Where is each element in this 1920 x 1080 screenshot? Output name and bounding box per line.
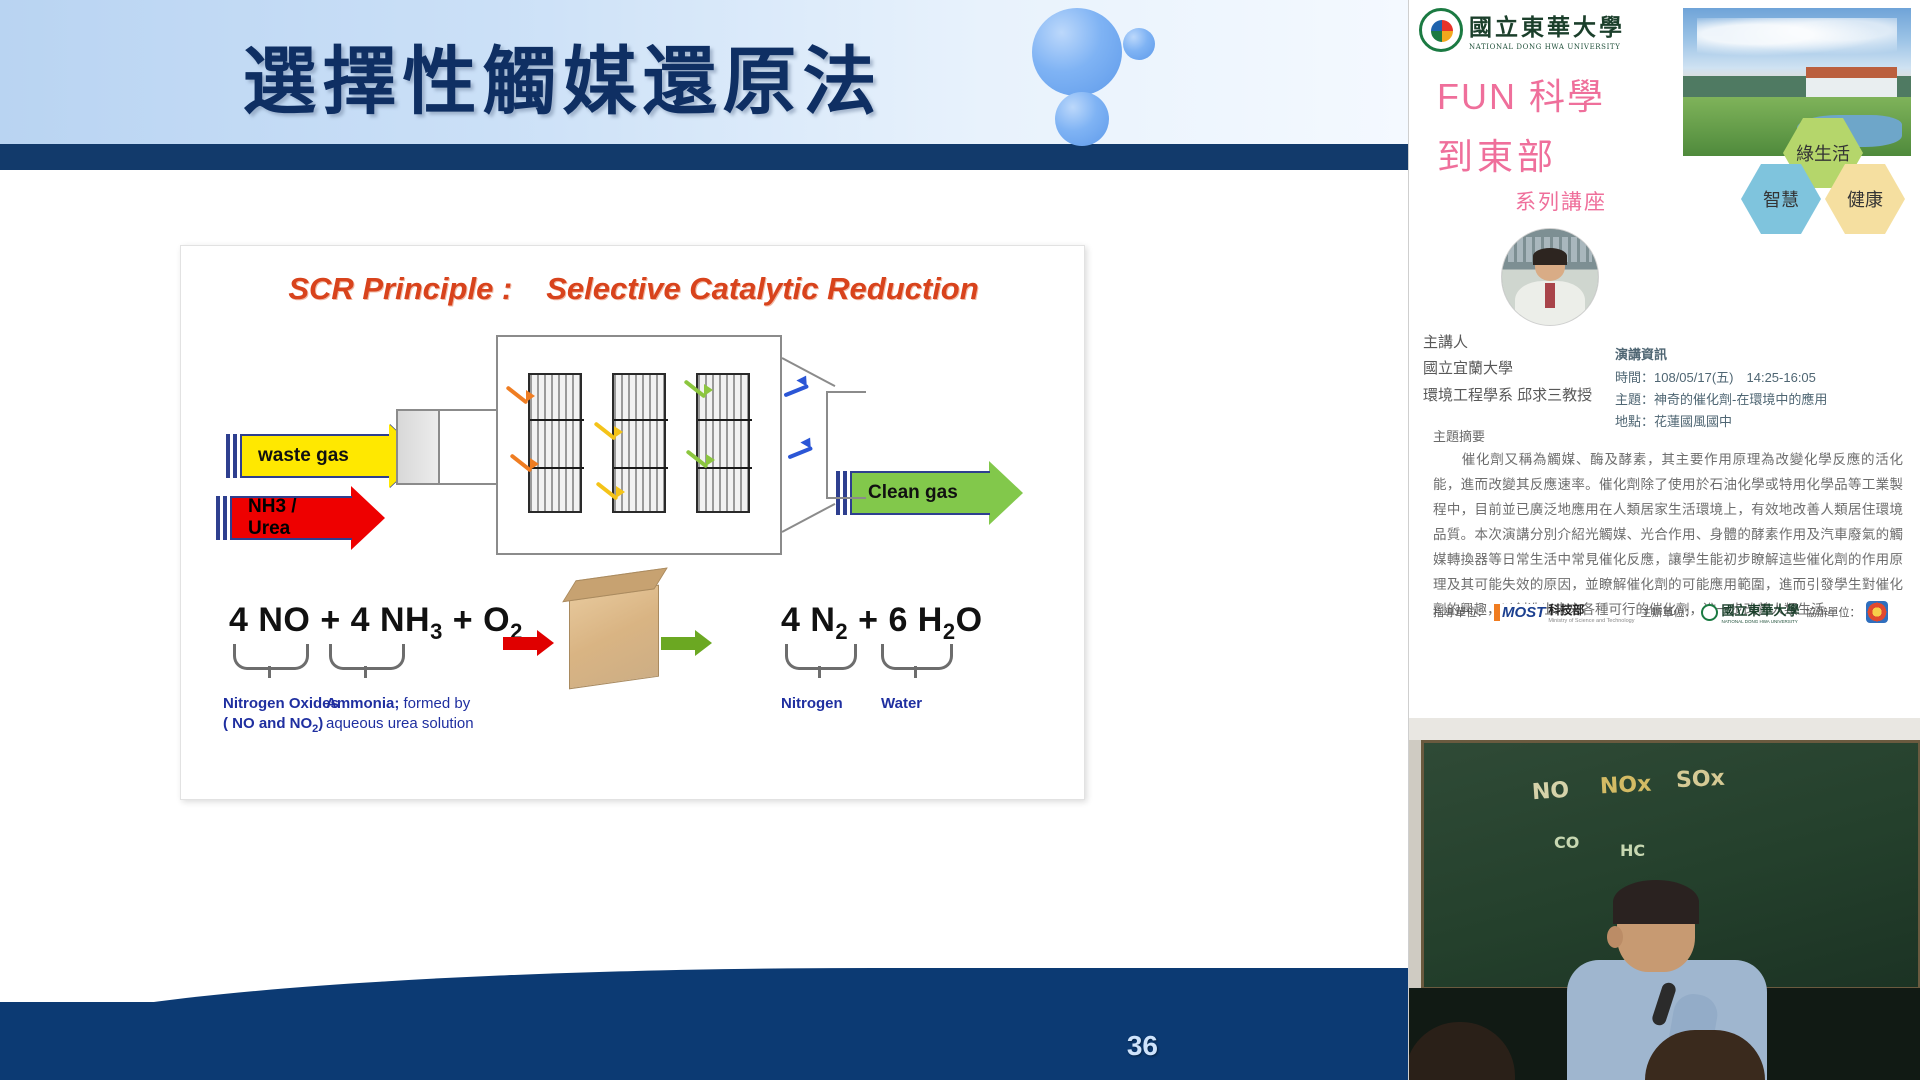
abstract-body: 催化劑又稱為觸媒、酶及酵素，其主要作用原理為改變化學反應的活化能，進而改變其反應…: [1433, 448, 1903, 623]
product-n2: 4 N: [781, 601, 835, 639]
most-logo: MOST 科技部 Ministry of Science and Technol…: [1494, 601, 1634, 624]
university-name-en: NATIONAL DONG HWA UNIVERSITY: [1469, 43, 1625, 51]
right-panel: 國立東華大學 NATIONAL DONG HWA UNIVERSITY FUN …: [1408, 0, 1920, 1080]
waste-gas-label: waste gas: [258, 445, 349, 467]
talk-topic: 主題：神奇的催化劑-在環境中的應用: [1615, 389, 1915, 411]
speaker-role: 主講人: [1423, 330, 1619, 356]
host-name-en: NATIONAL DONG HWA UNIVERSITY: [1721, 619, 1799, 624]
most-name-cn: 科技部: [1548, 603, 1584, 617]
speaker-block: 主講人 國立宜蘭大學 環境工程學系 邱求三教授: [1423, 330, 1619, 409]
slide-page-number: 36: [1127, 1030, 1158, 1062]
decorative-bubble-small: [1123, 28, 1155, 60]
abstract-title: 主題摘要: [1433, 426, 1485, 445]
scr-diagram-heading: SCR Principle :Selective Catalytic Reduc…: [181, 271, 1086, 307]
host-label: 主辦單位：: [1640, 604, 1695, 620]
clean-gas-label: Clean gas: [868, 482, 958, 504]
waste-gas-arrow: waste gas: [226, 424, 423, 488]
coorganizer-label: 協辦單位：: [1805, 604, 1860, 620]
label-nitrogen: Nitrogen: [781, 694, 843, 714]
label-ammonia: Ammonia; formed by aqueous urea solution: [326, 694, 474, 735]
talk-info-block: 演講資訊 時間：108/05/17(五) 14:25-16:05 主題：神奇的催…: [1615, 344, 1915, 433]
speaker-affiliation: 國立宜蘭大學: [1423, 356, 1619, 382]
screen: 選擇性觸媒還原法 SCR Principle :Selective Cataly…: [0, 0, 1920, 1080]
talk-info-heading: 演講資訊: [1615, 344, 1915, 363]
ndhu-seal-small-icon: [1701, 604, 1718, 621]
talk-venue: 地點：花蓮國風國中: [1615, 411, 1915, 433]
event-poster: 國立東華大學 NATIONAL DONG HWA UNIVERSITY FUN …: [1409, 0, 1920, 718]
catalyst-block: [528, 373, 582, 513]
brace-ammonia: [329, 644, 405, 670]
slide-header-rule: [0, 144, 1408, 170]
label-water: Water: [881, 694, 922, 714]
brace-nitrogen-oxides: [233, 644, 309, 670]
speaker-department-name: 環境工程學系 邱求三教授: [1423, 383, 1619, 409]
reactant-nh3: 4 NH: [351, 601, 430, 639]
organizer-row: 指導單位： MOST 科技部 Ministry of Science and T…: [1433, 600, 1919, 624]
scr-heading-left: SCR Principle :: [288, 271, 512, 306]
chalk-text-no: NO: [1531, 778, 1570, 806]
ndhu-seal-icon: [1419, 8, 1463, 52]
host-name-cn: 國立東華大學: [1721, 604, 1799, 619]
chalk-text-sox: SOx: [1675, 766, 1725, 794]
n2-subscript: 2: [835, 619, 848, 644]
nh3-urea-arrow: NH3 / Urea: [216, 486, 385, 550]
label-nitrogen-oxides: Nitrogen Oxides ( NO and NO2): [223, 694, 339, 737]
coorganizer-logo-icon: [1866, 601, 1888, 623]
chalk-text-hc: HC: [1620, 841, 1645, 860]
chalk-text-co: CO: [1554, 833, 1579, 852]
most-wordmark: MOST: [1494, 604, 1545, 621]
inlet-mini-arrow: [503, 630, 554, 656]
nh3-urea-label: NH3 / Urea: [248, 496, 342, 540]
host-logo: 國立東華大學 NATIONAL DONG HWA UNIVERSITY: [1701, 600, 1799, 624]
nh3-subscript: 3: [430, 619, 443, 644]
brace-nitrogen: [785, 644, 857, 670]
university-name-cn: 國立東華大學: [1469, 8, 1625, 42]
lecture-video-feed[interactable]: NO NOx SOx CO HC: [1409, 718, 1920, 1080]
equation-reactants: 4 NO + 4 NH3 + O2: [229, 601, 523, 645]
brace-water: [881, 644, 953, 670]
presentation-slide: 選擇性觸媒還原法 SCR Principle :Selective Cataly…: [0, 0, 1408, 1080]
talk-time: 時間：108/05/17(五) 14:25-16:05: [1615, 367, 1915, 389]
slide-title: 選擇性觸媒還原法: [0, 22, 1125, 129]
advisor-label: 指導單位：: [1433, 604, 1488, 620]
equation-products: 4 N2 + 6 H2O: [781, 601, 983, 645]
outlet-mini-arrow: [661, 630, 712, 656]
plus-sign: +: [320, 601, 340, 639]
product-h2o: 6 H: [888, 601, 942, 639]
scr-diagram: SCR Principle :Selective Catalytic Reduc…: [180, 245, 1085, 800]
plus-sign: +: [858, 601, 878, 639]
slide-footer-band: [0, 1002, 1408, 1080]
most-name-en: Ministry of Science and Technology: [1548, 618, 1634, 624]
scr-reactor-illustration: [396, 331, 866, 571]
h2o-subscript: 2: [943, 619, 956, 644]
plus-sign: +: [453, 601, 473, 639]
scr-heading-right: Selective Catalytic Reduction: [546, 271, 978, 306]
h2o-tail: O: [956, 601, 983, 639]
catalyst-cube: [569, 585, 659, 690]
reactant-no: 4 NO: [229, 601, 310, 639]
reactor-inlet: [396, 409, 440, 485]
theme-hexagons: 綠生活 智慧 健康: [1721, 118, 1911, 228]
speaker-avatar: [1501, 228, 1599, 326]
chalk-text-nox: NOx: [1599, 772, 1652, 800]
